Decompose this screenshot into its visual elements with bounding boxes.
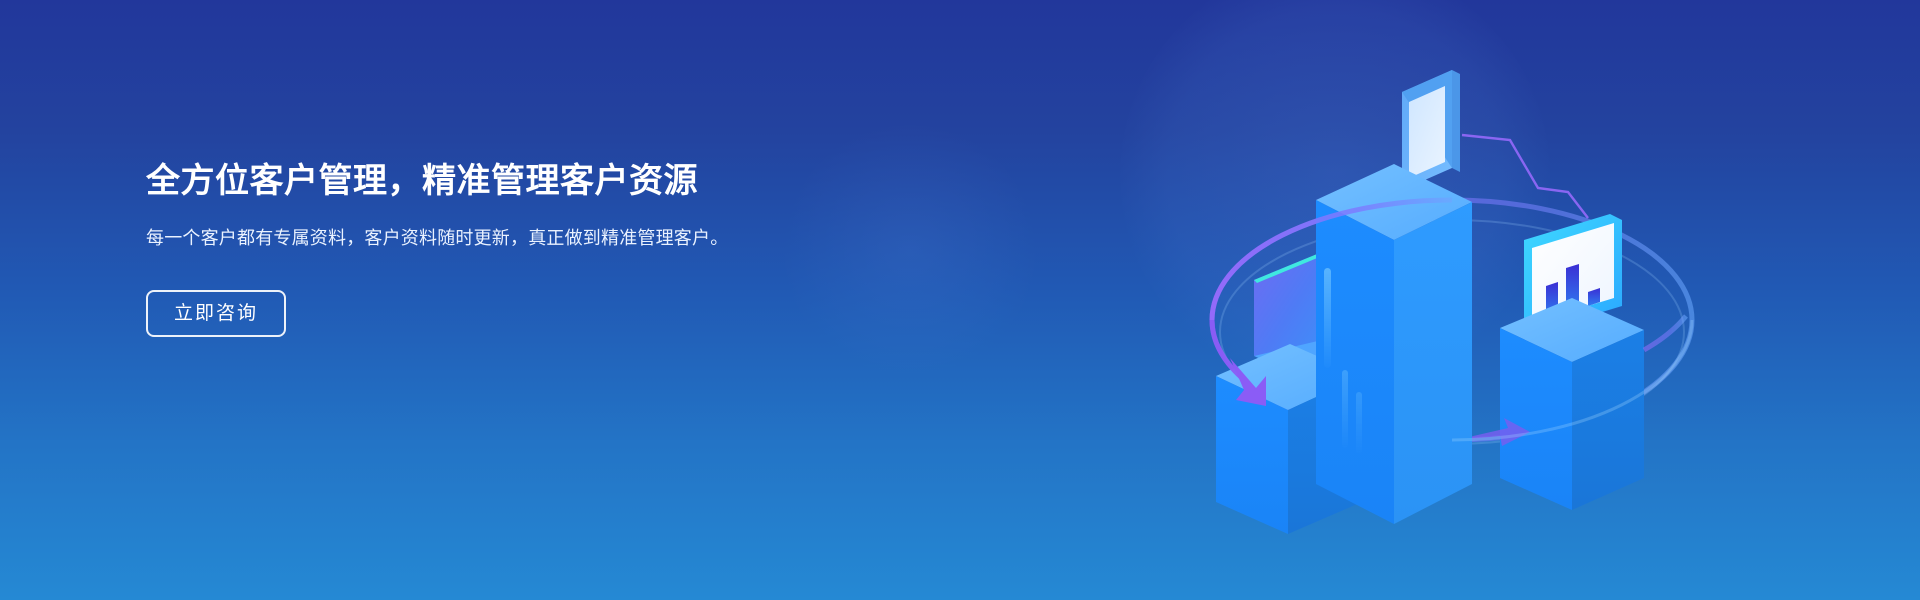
tablet-screen bbox=[1409, 86, 1445, 178]
right-pillar bbox=[1500, 214, 1644, 510]
consult-now-button[interactable]: 立即咨询 bbox=[146, 290, 286, 337]
hero-subtitle: 每一个客户都有专属资料，客户资料随时更新，真正做到精准管理客户。 bbox=[146, 225, 736, 253]
hero-copy-block: 全方位客户管理，精准管理客户资源 每一个客户都有专属资料，客户资料随时更新，真正… bbox=[146, 160, 786, 337]
tablet-device bbox=[1402, 70, 1460, 190]
hero-illustration bbox=[1170, 40, 1730, 560]
background-glow-circle-secondary bbox=[780, 120, 1040, 380]
center-pillar bbox=[1316, 70, 1472, 524]
center-pillar-side bbox=[1394, 202, 1472, 524]
hero-banner: 全方位客户管理，精准管理客户资源 每一个客户都有专属资料，客户资料随时更新，真正… bbox=[0, 0, 1920, 600]
page-title: 全方位客户管理，精准管理客户资源 bbox=[146, 160, 786, 203]
illustration-svg bbox=[1170, 40, 1730, 560]
